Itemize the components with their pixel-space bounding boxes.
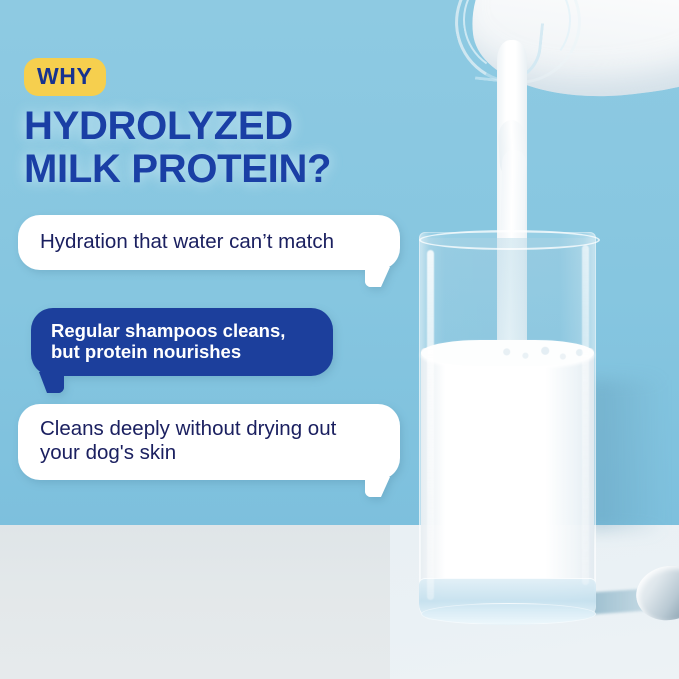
glass-left-highlight [427,250,434,600]
benefit-bubble-hydration: Hydration that water can’t match [18,215,400,270]
glass-right-highlight [582,245,589,585]
bubble-tail-icon [365,477,390,497]
why-badge: WHY [24,58,106,96]
page-title: HYDROLYZED MILK PROTEIN? [24,105,444,191]
benefit-bubble-text: Cleans deeply without drying out your do… [40,417,378,465]
headline-line-1: HYDROLYZED [24,105,444,148]
glass-rim [419,230,600,250]
benefit-bubble-cleans: Cleans deeply without drying out your do… [18,404,400,480]
headline-block: WHY HYDROLYZED MILK PROTEIN? [24,58,444,191]
benefit-bubble-text: Regular shampoos cleans, but protein nou… [51,320,313,362]
bubble-tail-icon [39,372,64,393]
glass-base-ellipse [421,603,596,625]
milk-foam-bubbles [488,342,592,364]
milk-fill [421,348,594,616]
product-benefit-poster: WHY HYDROLYZED MILK PROTEIN? Hydration t… [0,0,679,679]
benefit-bubble-text: Hydration that water can’t match [40,229,378,255]
bubble-tail-icon [365,267,390,287]
benefit-bubble-shampoo: Regular shampoos cleans, but protein nou… [31,308,333,376]
headline-line-2: MILK PROTEIN? [24,148,444,191]
glass-wall-shadow [588,380,658,530]
